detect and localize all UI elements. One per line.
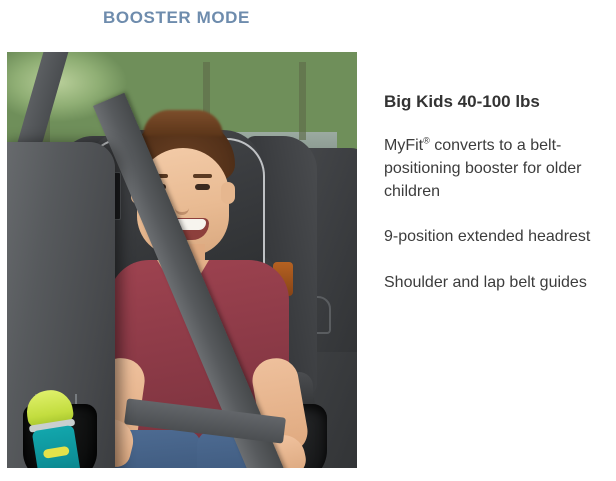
booster-mode-feature-panel: BOOSTER MODE <box>0 0 616 481</box>
child-nose <box>175 198 189 215</box>
page-title: BOOSTER MODE <box>103 8 250 28</box>
registered-trademark-icon: ® <box>423 136 430 146</box>
feature-copy-column: Big Kids 40-100 lbs MyFit® converts to a… <box>384 92 608 294</box>
child-ear-right <box>221 182 235 204</box>
sippy-cup-logo <box>43 446 70 459</box>
feature-paragraph-1: MyFit® converts to a belt-positioning bo… <box>384 134 608 203</box>
brand-name: MyFit <box>384 137 423 154</box>
product-photo <box>7 52 357 468</box>
feature-paragraph-3: Shoulder and lap belt guides <box>384 271 608 294</box>
child-eyebrow-right <box>193 174 212 178</box>
sippy-cup-body <box>32 425 83 468</box>
feature-heading: Big Kids 40-100 lbs <box>384 92 608 112</box>
child-eye-right <box>195 184 210 190</box>
product-photo-scene <box>7 52 357 468</box>
feature-paragraph-2: 9-position extended headrest <box>384 225 608 248</box>
